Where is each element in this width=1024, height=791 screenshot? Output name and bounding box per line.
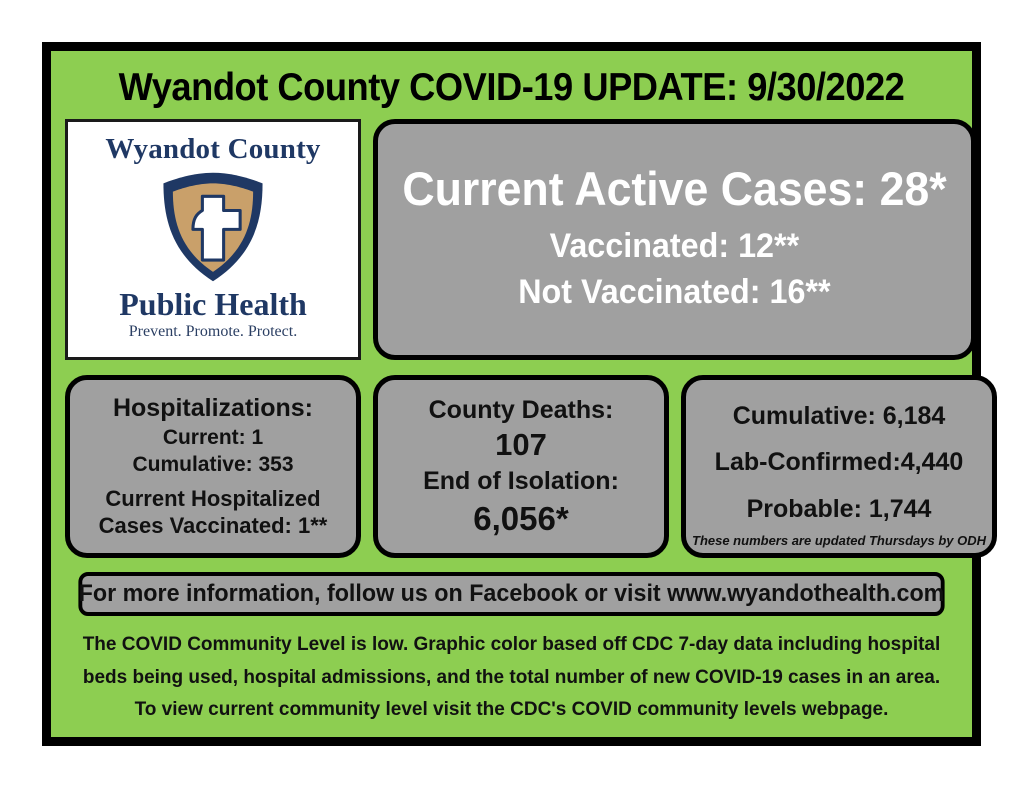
active-cases-not-vaccinated: Not Vaccinated: 16** (518, 270, 830, 316)
odh-update-note: These numbers are updated Thursdays by O… (692, 533, 986, 549)
poster-body: Wyandot County COVID-19 UPDATE: 9/30/202… (51, 51, 972, 737)
county-deaths-card: County Deaths: 107 End of Isolation: 6,0… (373, 375, 669, 558)
end-of-isolation-label: End of Isolation: (423, 465, 619, 498)
cumulative-total: Cumulative: 6,184 (733, 400, 946, 433)
county-deaths-value: 107 (495, 426, 547, 465)
agency-logo: Wyandot County Public Health Prevent. Pr… (65, 119, 361, 360)
community-level-note: The COVID Community Level is low. Graphi… (65, 629, 958, 727)
community-level-note-line-3: To view current community level visit th… (81, 694, 942, 727)
logo-public-health: Public Health (119, 288, 307, 321)
hospitalized-vaccinated-line-2: Cases Vaccinated: 1** (99, 513, 328, 540)
community-level-note-line-1: The COVID Community Level is low. Graphi… (81, 629, 942, 662)
logo-tagline: Prevent. Promote. Protect. (129, 322, 297, 341)
hospitalizations-cumulative: Cumulative: 353 (132, 451, 293, 478)
lab-confirmed-total: Lab-Confirmed:4,440 (715, 446, 964, 479)
hospitalizations-heading: Hospitalizations: (113, 393, 313, 424)
active-cases-total: Current Active Cases: 28* (402, 163, 946, 215)
active-cases-card: Current Active Cases: 28* Vaccinated: 12… (373, 119, 976, 360)
community-level-note-line-2: beds being used, hospital admissions, an… (81, 662, 942, 695)
more-information-bar[interactable]: For more information, follow us on Faceb… (78, 572, 944, 616)
page-title: Wyandot County COVID-19 UPDATE: 9/30/202… (96, 67, 926, 110)
end-of-isolation-value: 6,056* (473, 498, 568, 539)
probable-total: Probable: 1,744 (747, 493, 932, 526)
cumulative-cases-card: Cumulative: 6,184 Lab-Confirmed:4,440 Pr… (681, 375, 997, 558)
shield-icon (154, 168, 272, 286)
poster-frame: Wyandot County COVID-19 UPDATE: 9/30/202… (42, 42, 981, 746)
hospitalized-vaccinated-line-1: Current Hospitalized (105, 486, 320, 513)
hospitalizations-current: Current: 1 (163, 424, 263, 451)
active-cases-vaccinated: Vaccinated: 12** (550, 224, 800, 270)
hospitalizations-card: Hospitalizations: Current: 1 Cumulative:… (65, 375, 361, 558)
top-row: Wyandot County Public Health Prevent. Pr… (65, 119, 958, 360)
logo-county-name: Wyandot County (105, 135, 320, 164)
stats-row: Hospitalizations: Current: 1 Cumulative:… (65, 375, 958, 558)
more-information-text: For more information, follow us on Faceb… (79, 580, 945, 608)
county-deaths-label: County Deaths: (429, 394, 614, 427)
